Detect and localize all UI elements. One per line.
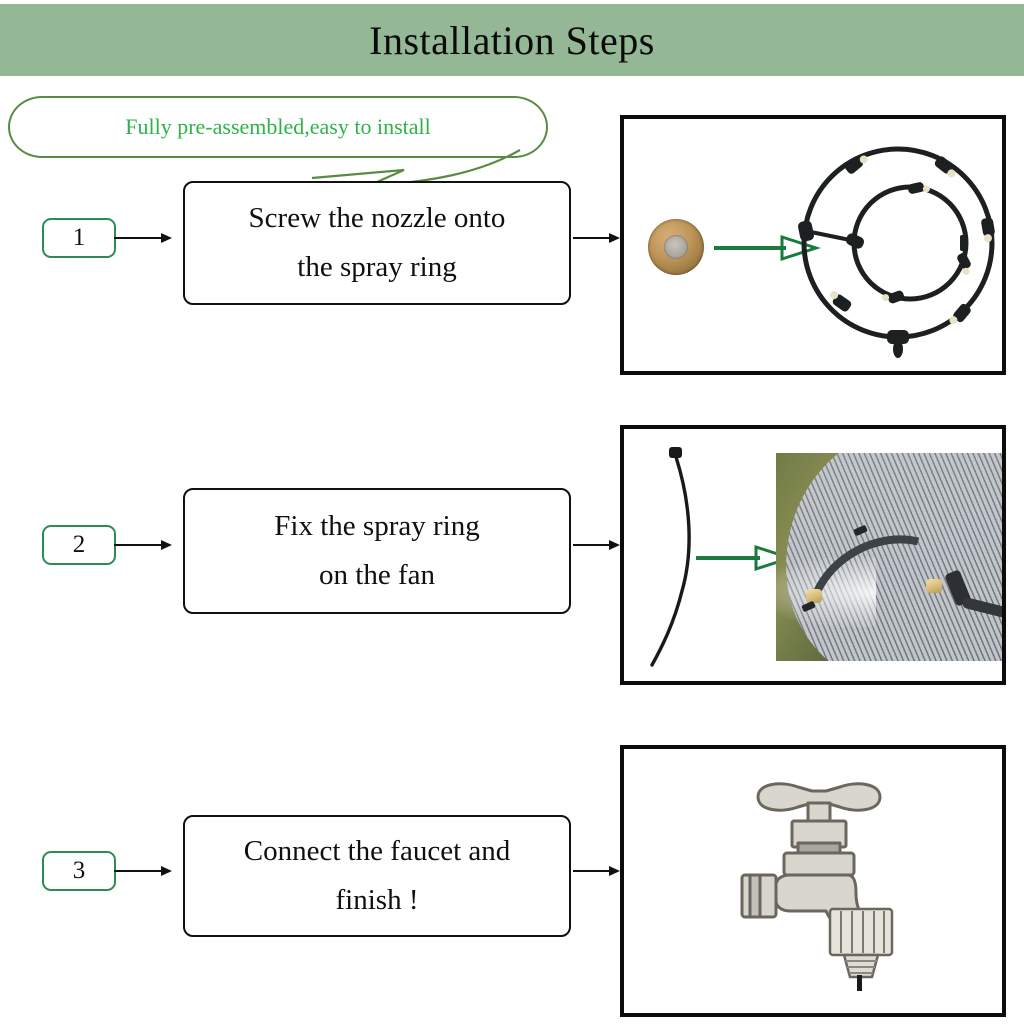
arrow-head — [161, 233, 172, 243]
arrow-shaft — [114, 870, 163, 872]
page-title: Installation Steps — [369, 17, 655, 64]
nozzle-pinhole-icon — [675, 246, 678, 249]
mist-nozzle-left-icon — [806, 589, 822, 603]
step-text-line-1: Connect the faucet and — [244, 837, 511, 866]
inner-ring — [854, 187, 966, 299]
arrow-badge-to-box-2 — [114, 538, 174, 552]
arrow-head — [609, 233, 620, 243]
brass-nozzle-icon — [648, 219, 704, 275]
arrow-box-to-panel-1 — [573, 231, 621, 245]
inner-ring-fittings — [844, 180, 974, 306]
step-number-badge-3: 3 — [42, 851, 116, 891]
arrow-head — [161, 540, 172, 550]
step-text-box-2: Fix the spray ring on the fan — [183, 488, 571, 614]
step-text-line-1: Screw the nozzle onto — [249, 204, 506, 233]
illustration-panel-2 — [620, 425, 1006, 685]
spray-ring-diagram — [792, 137, 1004, 359]
header-band: Installation Steps — [0, 4, 1024, 76]
step-number-3: 3 — [73, 857, 86, 885]
fan-installation-photo — [776, 453, 1006, 661]
step-text-line-2: on the fan — [319, 561, 435, 590]
arrow-shaft — [114, 237, 163, 239]
arrow-head — [609, 866, 620, 876]
step-text-line-2: the spray ring — [297, 253, 456, 282]
arrow-box-to-panel-3 — [573, 864, 621, 878]
arrow-head — [609, 540, 620, 550]
step-text-box-3: Connect the faucet and finish ! — [183, 815, 571, 937]
mist-nozzle-right-icon — [926, 579, 942, 593]
step-text-line-2: finish ! — [336, 886, 419, 915]
step-number-1: 1 — [73, 224, 86, 252]
arrow-shaft — [573, 870, 611, 872]
arrow-shaft — [573, 544, 611, 546]
step-text-box-1: Screw the nozzle onto the spray ring — [183, 181, 571, 305]
step-number-badge-1: 1 — [42, 218, 116, 258]
illustration-panel-3 — [620, 745, 1006, 1017]
illustration-panel-1 — [620, 115, 1006, 375]
installation-steps-infographic: Installation Steps Fully pre-assembled,e… — [0, 0, 1024, 1024]
arrow-badge-to-box-1 — [114, 231, 174, 245]
arrow-shaft — [114, 544, 163, 546]
arrow-badge-to-box-3 — [114, 864, 174, 878]
hose-outlet — [857, 975, 862, 991]
step-number-2: 2 — [73, 531, 86, 559]
arrow-head — [161, 866, 172, 876]
step-text-line-1: Fix the spray ring — [274, 512, 479, 541]
arrow-shaft — [573, 237, 611, 239]
step-number-badge-2: 2 — [42, 525, 116, 565]
arrow-box-to-panel-2 — [573, 538, 621, 552]
faucet-icon — [728, 775, 918, 991]
